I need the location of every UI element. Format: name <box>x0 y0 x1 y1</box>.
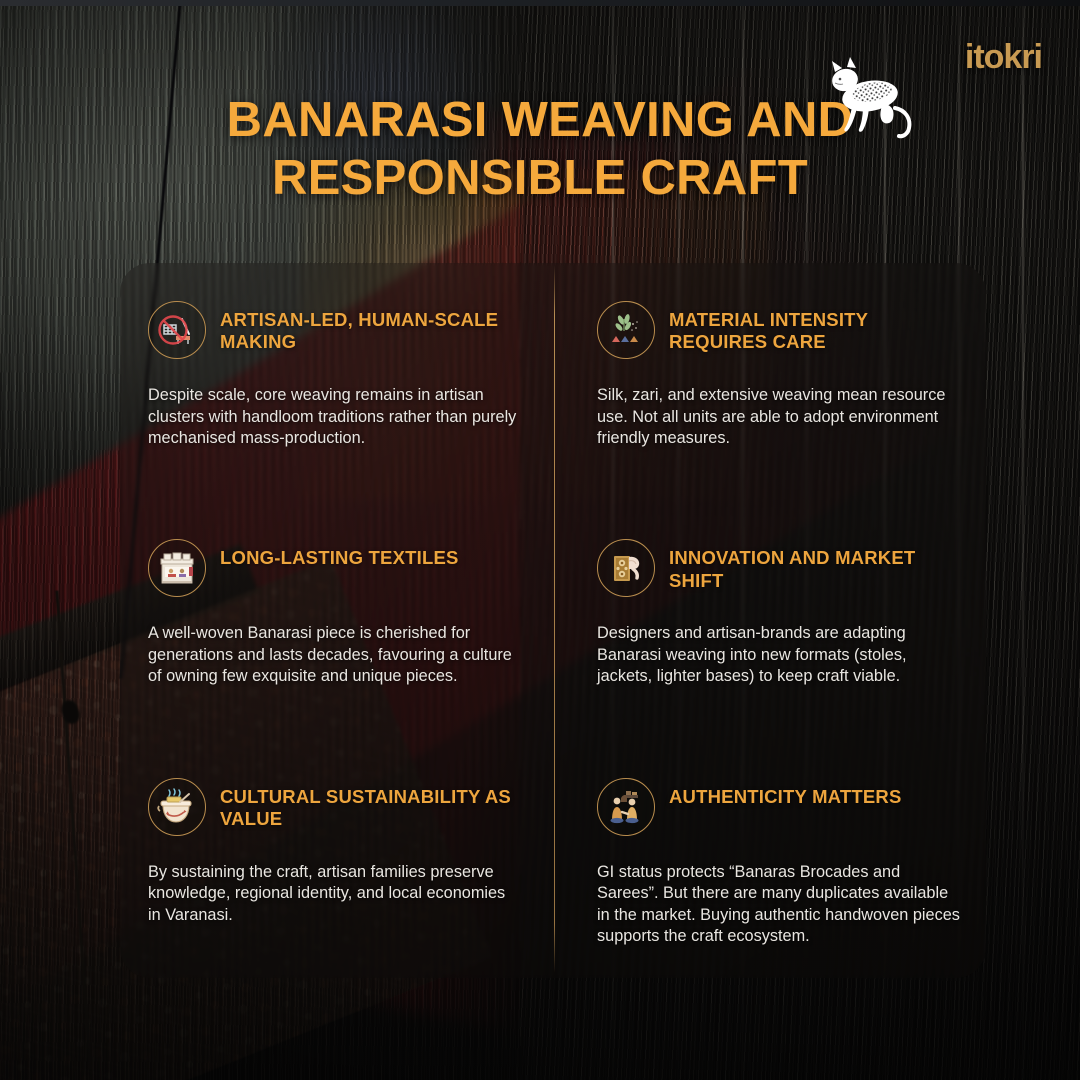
no-mass-production-icon <box>148 301 206 359</box>
card-header: ARTISAN-LED, HUMAN-SCALE MAKING <box>148 301 519 359</box>
card-header: INNOVATION AND MARKET SHIFT <box>597 539 964 597</box>
hand-holding-patterned-textile-icon <box>597 539 655 597</box>
card-heading: AUTHENTICITY MATTERS <box>669 786 902 808</box>
cat-illustration <box>825 52 925 144</box>
card-body-text: Despite scale, core weaving remains in a… <box>148 385 519 450</box>
card-heading: ARTISAN-LED, HUMAN-SCALE MAKING <box>220 309 519 353</box>
card-heading: MATERIAL INTENSITY REQUIRES CARE <box>669 309 964 353</box>
two-artisans-seated-icon <box>597 778 655 836</box>
card-heading: INNOVATION AND MARKET SHIFT <box>669 547 964 591</box>
card-body-text: GI status protects “Banaras Brocades and… <box>597 862 964 948</box>
info-card-material-intensity: MATERIAL INTENSITY REQUIRES CARE Silk, z… <box>553 263 986 501</box>
steaming-dye-pot-icon <box>148 778 206 836</box>
card-body-text: Designers and artisan-brands are adaptin… <box>597 623 964 688</box>
info-card-grid: ARTISAN-LED, HUMAN-SCALE MAKING Despite … <box>120 263 986 978</box>
card-heading: CULTURAL SUSTAINABILITY AS VALUE <box>220 786 519 830</box>
info-card-innovation-market-shift: INNOVATION AND MARKET SHIFT Designers an… <box>553 501 986 739</box>
info-card-authenticity-matters: AUTHENTICITY MATTERS GI status protects … <box>553 740 986 978</box>
background-top-strip <box>0 0 1080 6</box>
card-heading: LONG-LASTING TEXTILES <box>220 547 459 569</box>
card-header: MATERIAL INTENSITY REQUIRES CARE <box>597 301 964 359</box>
card-body-text: Silk, zari, and extensive weaving mean r… <box>597 385 964 450</box>
artisan-shop-stall-icon <box>148 539 206 597</box>
card-header: CULTURAL SUSTAINABILITY AS VALUE <box>148 778 519 836</box>
leaves-natural-dye-icon <box>597 301 655 359</box>
card-header: LONG-LASTING TEXTILES <box>148 539 519 597</box>
card-header: AUTHENTICITY MATTERS <box>597 778 964 836</box>
card-body-text: A well-woven Banarasi piece is cherished… <box>148 623 519 688</box>
page-title-line-1: BANARASI WEAVING AND <box>227 93 854 147</box>
info-card-cultural-sustainability: CULTURAL SUSTAINABILITY AS VALUE By sust… <box>120 740 553 978</box>
page-title-line-2: RESPONSIBLE CRAFT <box>120 150 960 208</box>
card-body-text: By sustaining the craft, artisan familie… <box>148 862 519 927</box>
info-card-artisan-led: ARTISAN-LED, HUMAN-SCALE MAKING Despite … <box>120 263 553 501</box>
brand-logo[interactable]: itokri <box>965 38 1042 77</box>
info-card-long-lasting-textiles: LONG-LASTING TEXTILES A well-woven Banar… <box>120 501 553 739</box>
